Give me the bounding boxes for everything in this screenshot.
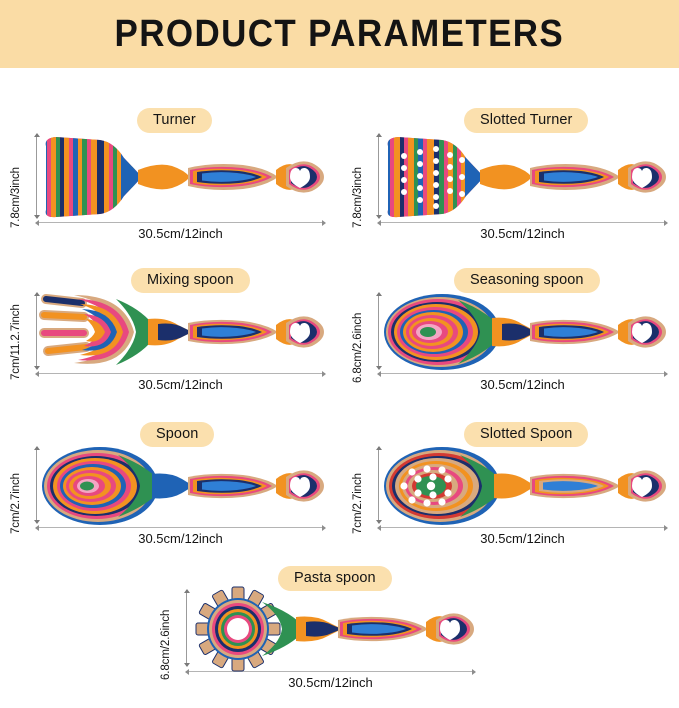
length-label: 30.5cm/12inch bbox=[36, 531, 325, 546]
utensil-art-turner bbox=[38, 132, 328, 222]
height-dimension-line bbox=[378, 447, 379, 523]
product-cell-slotted-spoon: Slotted Spoon 7cm/2.7inch 30.5cm/12inch bbox=[340, 412, 679, 562]
page-title: PRODUCT PARAMETERS bbox=[115, 13, 565, 56]
utensil-art-slotted-spoon bbox=[380, 445, 670, 527]
product-label-turner: Turner bbox=[137, 108, 212, 133]
length-label: 30.5cm/12inch bbox=[186, 675, 475, 690]
product-cell-seasoning-spoon: Seasoning spoon 6.8cm/2.6inch 30.5cm/12i… bbox=[340, 258, 679, 408]
utensil-art-spoon bbox=[38, 445, 328, 527]
product-label-seasoning-spoon: Seasoning spoon bbox=[454, 268, 600, 293]
product-cell-pasta-spoon: Pasta spoon 6.8cm/2.6inch 30.5cm/12inch bbox=[148, 558, 548, 708]
utensil-art-pasta-spoon bbox=[188, 588, 478, 670]
utensil-art-slotted-turner bbox=[380, 132, 670, 222]
product-label-spoon: Spoon bbox=[140, 422, 214, 447]
length-dimension-line bbox=[186, 671, 475, 672]
product-label-slotted-turner: Slotted Turner bbox=[464, 108, 588, 133]
length-dimension-line bbox=[36, 527, 325, 528]
height-label: 7cm/11.2.7inch bbox=[10, 304, 22, 380]
height-label: 6.8cm/2.6inch bbox=[352, 313, 364, 383]
length-dimension-line bbox=[378, 527, 667, 528]
height-label: 7cm/2.7inch bbox=[10, 473, 22, 534]
product-parameters-page: PRODUCT PARAMETERS bbox=[0, 0, 679, 673]
product-cell-mixing-spoon: Mixing spoon 7cm/11.2.7inch 30.5cm/12inc… bbox=[0, 258, 340, 408]
product-label-mixing-spoon: Mixing spoon bbox=[131, 268, 250, 293]
utensil-art-mixing-spoon bbox=[38, 291, 328, 373]
height-label: 7.8cm/3inch bbox=[352, 167, 364, 228]
header-banner: PRODUCT PARAMETERS bbox=[0, 0, 679, 68]
height-dimension-line bbox=[36, 293, 37, 369]
product-cell-slotted-turner: Slotted Turner 7.8cm/3inch 30.5cm/12inch bbox=[340, 104, 679, 254]
height-label: 7cm/2.7inch bbox=[352, 473, 364, 534]
product-label-slotted-spoon: Slotted Spoon bbox=[464, 422, 588, 447]
length-label: 30.5cm/12inch bbox=[378, 531, 667, 546]
length-label: 30.5cm/12inch bbox=[36, 377, 325, 392]
length-dimension-line bbox=[378, 222, 667, 223]
height-dimension-line bbox=[186, 590, 187, 666]
height-label: 7.8cm/3inch bbox=[10, 167, 22, 228]
height-dimension-line bbox=[36, 447, 37, 523]
length-label: 30.5cm/12inch bbox=[378, 226, 667, 241]
length-label: 30.5cm/12inch bbox=[378, 377, 667, 392]
product-cell-spoon: Spoon 7cm/2.7inch 30.5cm/12inch bbox=[0, 412, 340, 562]
product-cell-turner: Turner 7.8cm/3inch 30.5cm/12inch bbox=[0, 104, 340, 254]
length-label: 30.5cm/12inch bbox=[36, 226, 325, 241]
utensil-art-seasoning-spoon bbox=[380, 291, 670, 373]
height-label: 6.8cm/2.6inch bbox=[160, 610, 172, 680]
length-dimension-line bbox=[378, 373, 667, 374]
length-dimension-line bbox=[36, 373, 325, 374]
height-dimension-line bbox=[378, 134, 379, 218]
height-dimension-line bbox=[378, 293, 379, 369]
height-dimension-line bbox=[36, 134, 37, 218]
length-dimension-line bbox=[36, 222, 325, 223]
